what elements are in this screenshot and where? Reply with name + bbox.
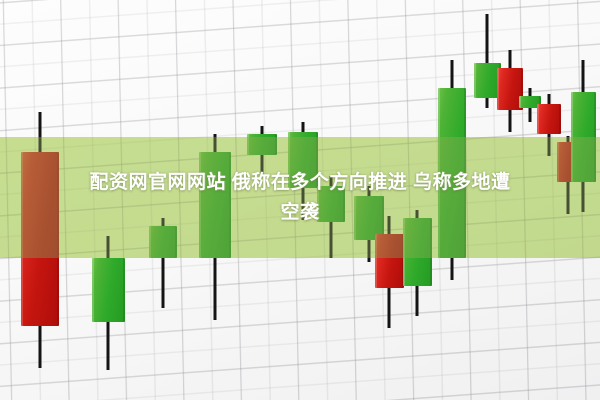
- candle-16: [571, 0, 596, 400]
- candle-body-up: [403, 218, 432, 286]
- candle-8: [375, 0, 404, 400]
- candle-body-up: [149, 226, 177, 258]
- candle-body-up: [317, 186, 345, 222]
- candle-body-down: [21, 152, 59, 326]
- candle-10: [438, 0, 466, 400]
- candle-body-up: [92, 258, 125, 322]
- candle-body-up: [571, 92, 596, 182]
- candle-0: [21, 0, 59, 400]
- candlestick-chart-banner: 配资网官网网站 俄称在多个方向推进 乌称多地遭 空袭: [0, 0, 600, 400]
- candle-body-up: [288, 132, 318, 188]
- candle-1: [92, 0, 125, 400]
- candle-body-up: [199, 152, 231, 258]
- candle-body-up: [438, 88, 466, 258]
- candle-3: [199, 0, 231, 400]
- candle-6: [317, 0, 345, 400]
- candle-2: [149, 0, 177, 400]
- candle-4: [247, 0, 277, 400]
- candle-9: [403, 0, 432, 400]
- candle-body-down: [375, 234, 404, 288]
- candle-5: [288, 0, 318, 400]
- candlestick-series: [0, 0, 600, 400]
- candle-body-up: [247, 134, 277, 155]
